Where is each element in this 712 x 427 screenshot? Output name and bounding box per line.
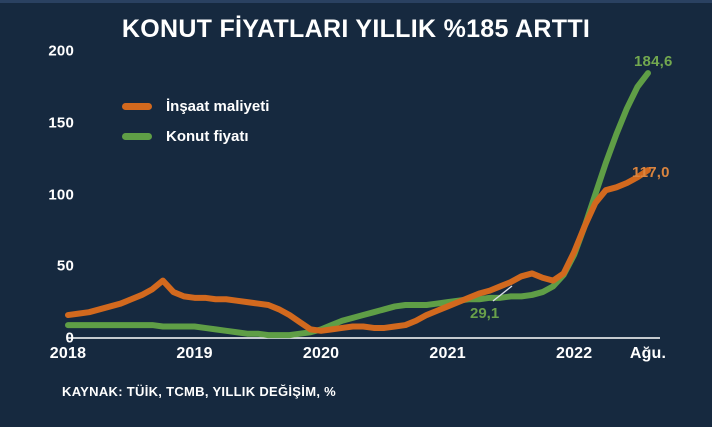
y-tick-200: 200 [24,43,74,60]
chart-canvas: KONUT FİYATLARI YILLIK %185 ARTTI 050100… [0,0,712,424]
source-note: KAYNAK: TÜİK, TCMB, YILLIK DEĞİŞİM, % [62,384,336,399]
chart-legend: İnşaat maliyeti Konut fiyatı [122,91,269,151]
orange-series-end-value-label: 117,0 [632,164,670,181]
x-tick-2018: 2018 [50,345,86,363]
green-series-callout-label: 29,1 [470,305,499,322]
legend-label-konut-fiyati: Konut fiyatı [166,128,249,145]
y-tick-50: 50 [24,258,74,275]
legend-item-insaat-maliyeti[interactable]: İnşaat maliyeti [122,91,269,121]
y-tick-0: 0 [24,330,74,347]
x-tick-2020: 2020 [303,345,339,363]
y-tick-150: 150 [24,114,74,131]
legend-swatch-orange [122,103,152,110]
x-tick-2019: 2019 [176,345,212,363]
line-chart-plot [0,3,712,427]
legend-item-konut-fiyati[interactable]: Konut fiyatı [122,121,269,151]
x-tick-au: Ağu. [630,345,666,363]
legend-swatch-green [122,133,152,140]
legend-label-insaat-maliyeti: İnşaat maliyeti [166,98,269,115]
y-tick-100: 100 [24,186,74,203]
x-tick-2021: 2021 [429,345,465,363]
x-tick-2022: 2022 [556,345,592,363]
series-line-insaat-maliyeti [68,170,648,331]
green-series-end-value-label: 184,6 [634,53,673,70]
